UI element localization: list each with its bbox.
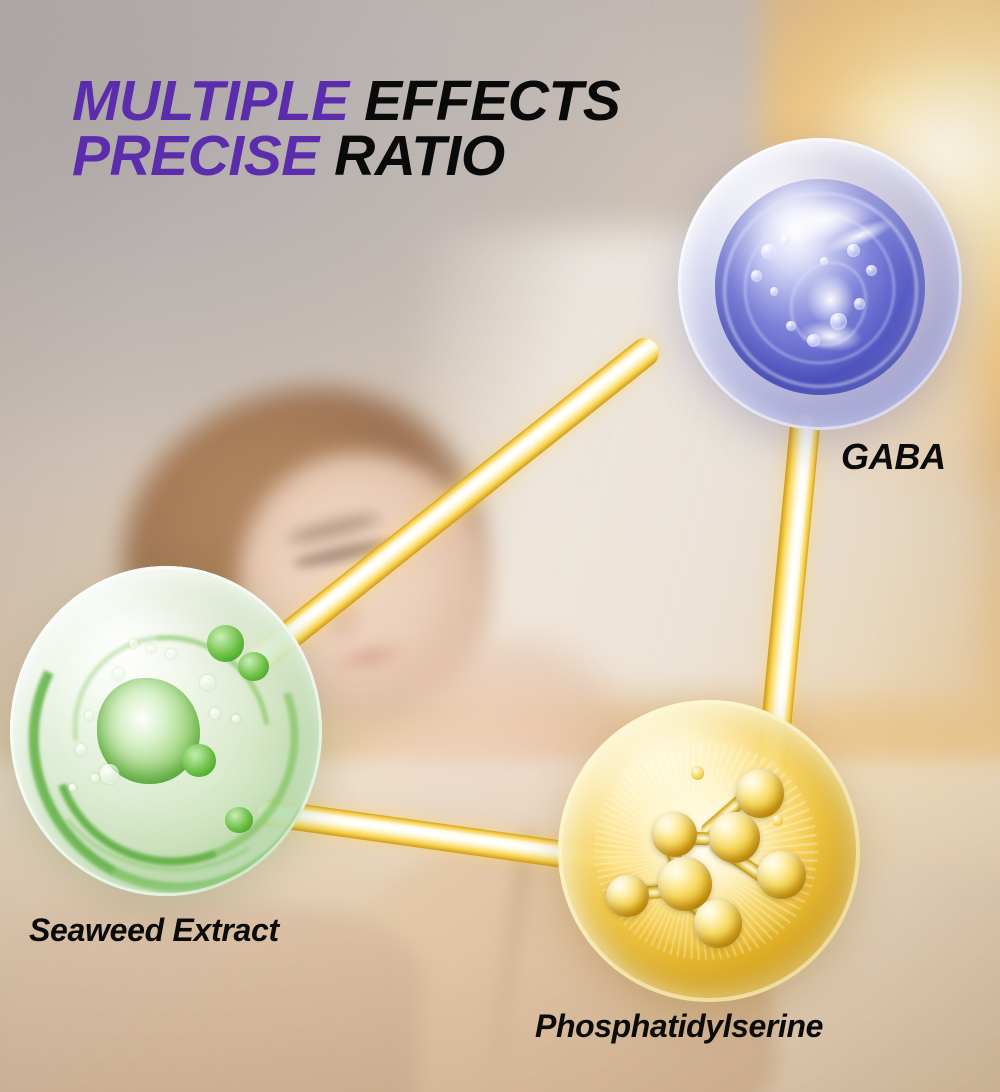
headline-word-ratio: RATIO [334,124,505,188]
gaba-gel [715,179,925,395]
gaba-bubble-1 [761,244,776,259]
headline-line-2: PRECISE RATIO [72,129,620,184]
gaba-bubble-9 [786,321,795,331]
seaweed-blob-b [207,625,244,661]
headline-line-1: MULTIPLE EFFECTS [72,74,620,129]
connector-seaweed-to-gaba [246,332,665,673]
seaweed-bubble-1 [100,764,119,784]
seaweed-gel [10,566,322,896]
gaba-bubble-6 [866,265,877,276]
gaba-bubble-2 [780,235,791,246]
molecule-atom-bottom [694,899,742,947]
gaba-bubble-3 [751,270,763,282]
headline: MULTIPLE EFFECTS PRECISE RATIO [72,74,620,183]
molecule-atom-center-right [709,812,760,863]
seaweed-bubble-3 [91,774,98,782]
molecule-atom-left [606,875,648,917]
ingredient-label-seaweed: Seaweed Extract [29,912,279,949]
gaba-orb-shell [678,138,962,430]
seaweed-bubble-6 [166,649,176,660]
ingredient-label-phosphatidylserine: Phosphatidylserine [535,1008,823,1045]
molecule-atom-top-right [736,769,784,817]
gaba-bubble-5 [847,244,860,257]
ingredient-orb-seaweed[interactable] [10,566,322,896]
phosphatidylserine-orb-shell [558,700,860,1002]
molecule-mini-bubble-2 [772,815,783,826]
ingredient-label-gaba: GABA [841,436,946,478]
seaweed-bubble-5 [147,645,154,653]
ingredient-orb-gaba[interactable] [678,138,962,430]
molecule-atom-right [757,851,805,899]
gaba-bubble-10 [854,298,866,310]
headline-word-precise: PRECISE [72,124,319,188]
seaweed-blob-a [182,744,216,777]
seaweed-bubble-8 [200,675,214,690]
seaweed-bubble-10 [232,715,240,724]
gaba-bubble-4 [770,287,778,296]
seaweed-orb-shell [10,566,322,896]
promo-banner: MULTIPLE EFFECTS PRECISE RATIO [0,0,1000,1092]
ingredient-orb-phosphatidylserine[interactable] [558,700,860,1002]
molecule-atom-center-left [652,812,697,857]
seaweed-bubble-11 [85,711,93,720]
